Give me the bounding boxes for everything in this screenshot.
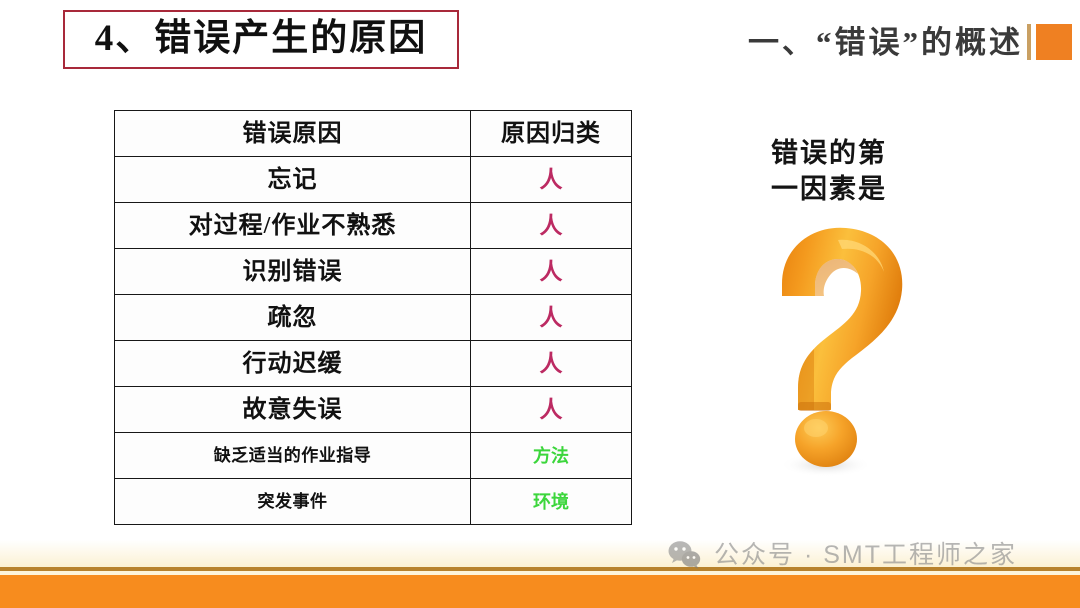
table-header-cell-reason: 错误原因 — [115, 111, 471, 157]
table-cell-category: 人 — [471, 295, 632, 341]
table-cell-category: 人 — [471, 249, 632, 295]
wechat-icon — [668, 540, 702, 570]
watermark-text: 公众号 · SMT工程师之家 — [714, 543, 1017, 568]
watermark: 公众号 · SMT工程师之家 — [668, 540, 1017, 570]
category-text: 人 — [471, 398, 631, 421]
table-header-row: 错误原因 原因归类 — [115, 111, 632, 157]
right-caption: 错误的第 一因素是 — [714, 136, 944, 207]
slide-title-box: 4、错误产生的原因 — [63, 10, 459, 69]
table-cell-reason: 识别错误 — [115, 249, 471, 295]
table-row: 疏忽 人 — [115, 295, 632, 341]
reason-text: 故意失误 — [115, 398, 470, 422]
category-text: 人 — [471, 352, 631, 375]
category-text: 人 — [471, 306, 631, 329]
category-text: 人 — [471, 168, 631, 191]
table-cell-category: 方法 — [471, 433, 632, 479]
column-header-reason: 错误原因 — [115, 122, 470, 146]
category-text: 人 — [471, 260, 631, 283]
table-header-cell-category: 原因归类 — [471, 111, 632, 157]
table-cell-category: 人 — [471, 387, 632, 433]
question-mark-3d-icon — [742, 222, 922, 477]
reason-text: 识别错误 — [115, 260, 470, 284]
category-text: 人 — [471, 214, 631, 237]
table-row: 行动迟缓 人 — [115, 341, 632, 387]
orange-square-icon — [1036, 24, 1072, 60]
table-cell-category: 人 — [471, 157, 632, 203]
reason-text: 疏忽 — [115, 306, 470, 330]
reason-text: 行动迟缓 — [115, 352, 470, 376]
reason-text: 缺乏适当的作业指导 — [115, 447, 470, 464]
slide-canvas: 4、错误产生的原因 一、“错误”的概述 错误原因 原因归类 忘记 — [0, 0, 1080, 608]
footer-bar — [0, 575, 1080, 608]
table-row: 对过程/作业不熟悉 人 — [115, 203, 632, 249]
table-cell-category: 人 — [471, 203, 632, 249]
section-header: 一、“错误”的概述 — [748, 17, 1072, 67]
table-cell-reason: 对过程/作业不熟悉 — [115, 203, 471, 249]
caption-line-2: 一因素是 — [714, 172, 944, 208]
category-text: 环境 — [471, 493, 631, 511]
reason-text: 对过程/作业不熟悉 — [115, 214, 470, 238]
table-cell-category: 环境 — [471, 479, 632, 525]
table-cell-category: 人 — [471, 341, 632, 387]
table-cell-reason: 突发事件 — [115, 479, 471, 525]
reason-text: 忘记 — [115, 168, 470, 192]
vertical-bar-icon — [1027, 24, 1031, 60]
table-row: 突发事件 环境 — [115, 479, 632, 525]
table-cell-reason: 忘记 — [115, 157, 471, 203]
table-row: 缺乏适当的作业指导 方法 — [115, 433, 632, 479]
reason-text: 突发事件 — [115, 493, 470, 510]
table-row: 识别错误 人 — [115, 249, 632, 295]
table-cell-reason: 缺乏适当的作业指导 — [115, 433, 471, 479]
table-row: 忘记 人 — [115, 157, 632, 203]
error-cause-table: 错误原因 原因归类 忘记 人 对过程/作业不熟悉 人 — [114, 110, 632, 525]
category-text: 方法 — [471, 447, 631, 465]
caption-line-1: 错误的第 — [714, 136, 944, 172]
table-cell-reason: 故意失误 — [115, 387, 471, 433]
column-header-category: 原因归类 — [471, 122, 631, 146]
table-row: 故意失误 人 — [115, 387, 632, 433]
section-header-label: 一、“错误”的概述 — [748, 27, 1023, 58]
table-cell-reason: 疏忽 — [115, 295, 471, 341]
page-title: 4、错误产生的原因 — [95, 20, 428, 57]
table-cell-reason: 行动迟缓 — [115, 341, 471, 387]
